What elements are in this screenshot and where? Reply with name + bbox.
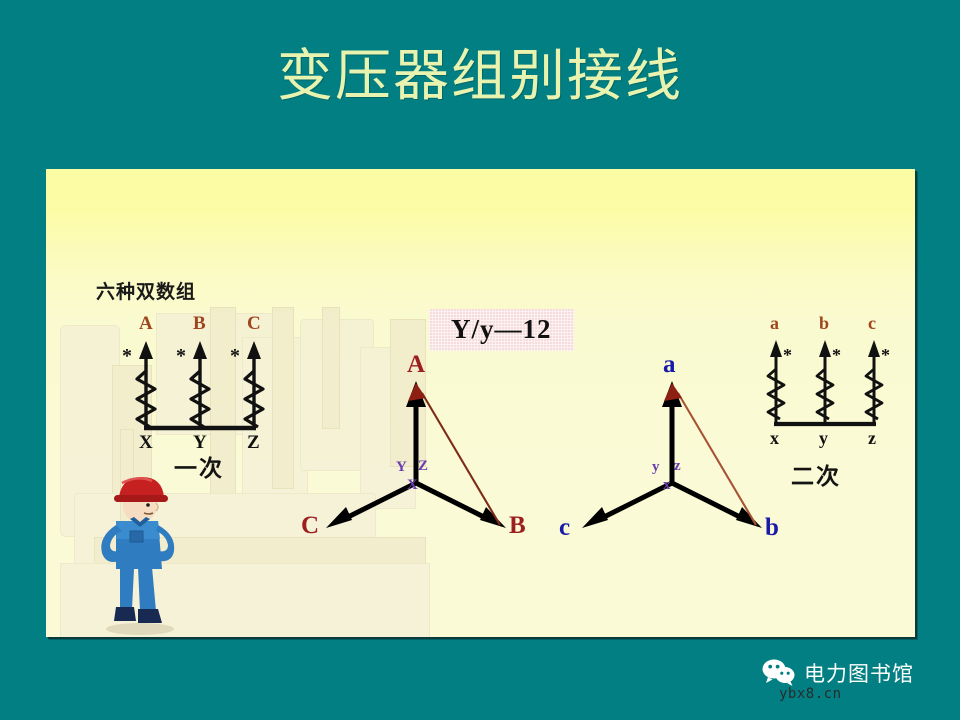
winding-phase-c-secondary <box>866 340 882 423</box>
secondary-polarity-mark-c: * <box>881 345 890 366</box>
brand-name: 电力图书馆 <box>804 658 914 688</box>
content-panel: 六种双数组 Y/y—12 <box>46 169 915 637</box>
secondary-winding-caption: 二次 <box>791 457 841 491</box>
vector-b-secondary <box>672 483 762 528</box>
secondary-terminal-y: y <box>819 428 828 449</box>
vector-neutral-label-x: X <box>407 477 418 494</box>
secondary-vector-diagram: a b c y z x <box>554 365 794 535</box>
winding-phase-b <box>191 341 209 427</box>
primary-winding-diagram: A B C * * * X Y Z <box>108 329 298 459</box>
vector-c-secondary <box>582 483 672 528</box>
primary-vector-diagram: A B C Y Z X <box>294 365 534 535</box>
primary-terminal-b: B <box>193 313 206 335</box>
vector-group-label: Y/y—12 <box>429 309 574 351</box>
vector-neutral-label-x-secondary: x <box>663 477 671 494</box>
winding-phase-b-secondary <box>817 340 833 423</box>
group-heading: 六种双数组 <box>96 277 196 304</box>
secondary-polarity-mark-a: * <box>783 345 792 366</box>
worker-illustration <box>86 469 196 637</box>
vector-label-c: C <box>301 512 319 540</box>
vector-neutral-label-y-secondary: y <box>652 459 660 476</box>
primary-polarity-mark-c: * <box>230 345 240 368</box>
winding-phase-c <box>245 341 263 427</box>
site-watermark: ybx8.cn <box>779 686 842 702</box>
vector-b <box>416 483 506 528</box>
vector-label-b: B <box>509 512 526 540</box>
primary-terminal-a: A <box>139 313 153 335</box>
primary-terminal-x: X <box>139 432 153 454</box>
primary-polarity-mark-a: * <box>122 345 132 368</box>
primary-polarity-mark-b: * <box>176 345 186 368</box>
vector-neutral-label-z: Z <box>418 458 428 475</box>
vector-neutral-label-z-secondary: z <box>674 458 681 475</box>
secondary-terminal-c: c <box>868 313 876 334</box>
vector-label-a: A <box>407 351 425 379</box>
secondary-terminal-a: a <box>770 313 779 334</box>
primary-terminal-c: C <box>247 313 261 335</box>
footer-brand: 电力图书馆 <box>762 658 914 688</box>
winding-phase-a <box>137 341 155 427</box>
primary-terminal-z: Z <box>247 432 260 454</box>
slide-canvas: 变压器组别接线 六种双数组 Y/y—12 <box>0 0 960 720</box>
page-title: 变压器组别接线 <box>0 42 960 112</box>
secondary-terminal-b: b <box>819 313 829 334</box>
vector-label-a-secondary: a <box>663 351 676 379</box>
secondary-polarity-mark-b: * <box>832 345 841 366</box>
vector-label-c-secondary: c <box>559 514 570 542</box>
vector-c <box>326 483 416 528</box>
vector-label-b-secondary: b <box>765 514 779 542</box>
secondary-terminal-z: z <box>868 428 876 449</box>
wechat-icon <box>762 659 796 687</box>
vector-neutral-label-y: Y <box>396 459 407 476</box>
